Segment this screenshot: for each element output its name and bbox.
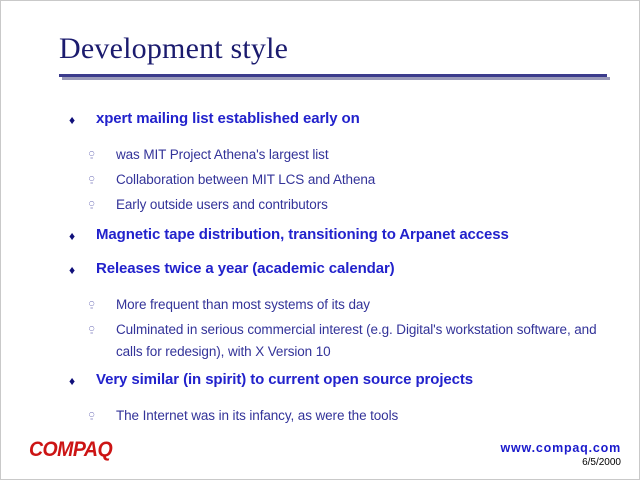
title-divider-shadow bbox=[62, 77, 610, 80]
bullet-text: Early outside users and contributors bbox=[116, 194, 619, 216]
diamond-bullet-icon: ♦ bbox=[69, 374, 79, 388]
bullet-text: More frequent than most systems of its d… bbox=[116, 294, 619, 316]
bullet-item-level2: ⍜ More frequent than most systems of its… bbox=[1, 294, 640, 318]
bullet-text: The Internet was in its infancy, as were… bbox=[116, 405, 619, 427]
circle-bullet-icon: ⍜ bbox=[89, 197, 99, 211]
bullet-text: Culminated in serious commercial interes… bbox=[116, 319, 619, 363]
bullet-text: Collaboration between MIT LCS and Athena bbox=[116, 169, 619, 191]
bullet-text: Very similar (in spirit) to current open… bbox=[96, 370, 640, 390]
bullet-item-level1: ♦ xpert mailing list established early o… bbox=[1, 109, 640, 138]
bullet-item-level2: ⍜ Collaboration between MIT LCS and Athe… bbox=[1, 169, 640, 193]
compaq-logo: COMPAQ bbox=[29, 438, 112, 462]
footer-date: 6/5/2000 bbox=[582, 457, 621, 469]
title-divider bbox=[59, 74, 607, 80]
diamond-bullet-icon: ♦ bbox=[69, 113, 79, 127]
bullet-text: Releases twice a year (academic calendar… bbox=[96, 259, 640, 279]
circle-bullet-icon: ⍜ bbox=[89, 297, 99, 311]
diamond-bullet-icon: ♦ bbox=[69, 229, 79, 243]
bullet-text: Magnetic tape distribution, transitionin… bbox=[96, 225, 640, 245]
diamond-bullet-icon: ♦ bbox=[69, 263, 79, 277]
slide-title: Development style bbox=[59, 32, 288, 66]
bullet-item-level1: ♦ Very similar (in spirit) to current op… bbox=[1, 370, 640, 399]
circle-bullet-icon: ⍜ bbox=[89, 408, 99, 422]
title-divider-line bbox=[59, 74, 607, 77]
bullet-text: was MIT Project Athena's largest list bbox=[116, 144, 619, 166]
bullet-item-level1: ♦ Releases twice a year (academic calend… bbox=[1, 259, 640, 288]
slide-body: ♦ xpert mailing list established early o… bbox=[1, 109, 640, 430]
presentation-slide: Development style ♦ xpert mailing list e… bbox=[0, 0, 640, 480]
bullet-item-level2: ⍜ was MIT Project Athena's largest list bbox=[1, 144, 640, 168]
circle-bullet-icon: ⍜ bbox=[89, 172, 99, 186]
bullet-item-level1: ♦ Magnetic tape distribution, transition… bbox=[1, 225, 640, 254]
circle-bullet-icon: ⍜ bbox=[89, 322, 99, 336]
bullet-item-level2: ⍜ Culminated in serious commercial inter… bbox=[1, 319, 640, 363]
bullet-item-level2: ⍜ The Internet was in its infancy, as we… bbox=[1, 405, 640, 429]
footer-url: www.compaq.com bbox=[501, 441, 621, 456]
bullet-text: xpert mailing list established early on bbox=[96, 109, 640, 129]
bullet-item-level2: ⍜ Early outside users and contributors bbox=[1, 194, 640, 218]
circle-bullet-icon: ⍜ bbox=[89, 147, 99, 161]
